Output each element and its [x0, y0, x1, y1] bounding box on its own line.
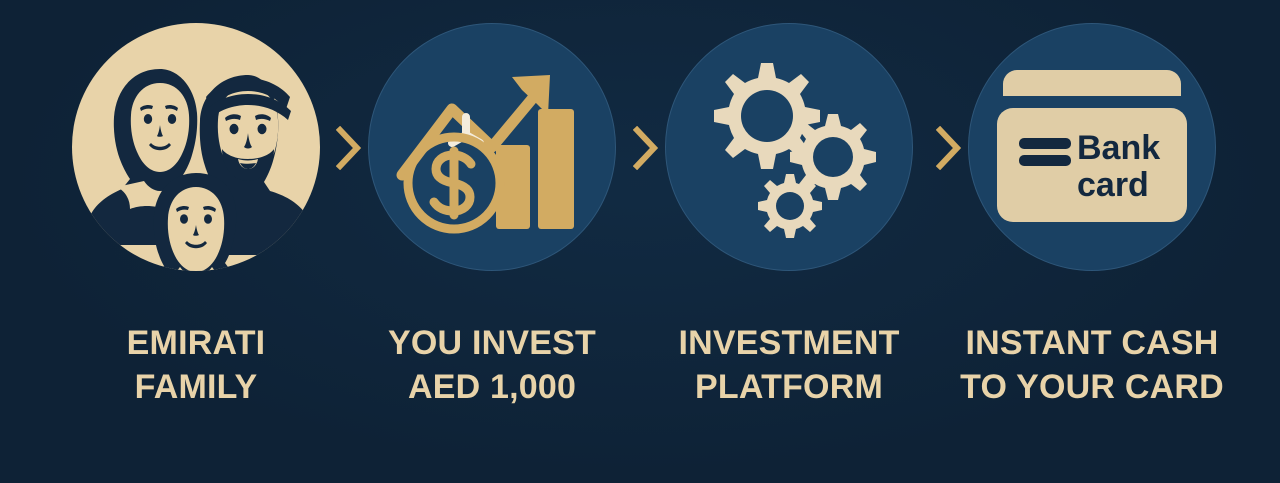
step-emirati-family: EMIRATI FAMILY	[72, 0, 320, 483]
step-4-label-line1: INSTANT CASH	[966, 324, 1219, 362]
step-1-label-line2: FAMILY	[44, 366, 348, 410]
bank-card-icon: Bank card	[968, 23, 1216, 271]
step-2-circle	[368, 23, 616, 271]
chevron-right-icon-1	[336, 126, 362, 170]
step-1-circle	[72, 23, 320, 271]
growth-chart-dollar-icon	[368, 23, 616, 271]
step-you-invest: YOU INVEST AED 1,000	[368, 0, 616, 483]
step-1-caption: EMIRATI FAMILY	[44, 322, 348, 409]
step-4-circle: Bank card	[968, 23, 1216, 271]
bank-card-text-line2: card	[1077, 166, 1149, 204]
step-4-label-line2: TO YOUR CARD	[940, 366, 1244, 410]
step-investment-platform: INVESTMENT PLATFORM	[665, 0, 913, 483]
step-2-label-line2: AED 1,000	[340, 366, 644, 410]
infographic-flow: EMIRATI FAMILY	[0, 0, 1280, 483]
step-3-label-line2: PLATFORM	[637, 366, 941, 410]
bank-card-text-line1: Bank	[1077, 129, 1160, 167]
gears-icon	[665, 23, 913, 271]
step-2-caption: YOU INVEST AED 1,000	[340, 322, 644, 409]
step-instant-cash: Bank card INSTANT CASH TO YOUR CARD	[968, 0, 1216, 483]
emirati-family-icon	[72, 23, 320, 271]
step-4-caption: INSTANT CASH TO YOUR CARD	[940, 322, 1244, 409]
step-3-circle	[665, 23, 913, 271]
step-3-caption: INVESTMENT PLATFORM	[637, 322, 941, 409]
step-1-label-line1: EMIRATI	[127, 324, 266, 362]
chevron-right-icon-2	[633, 126, 659, 170]
step-3-label-line1: INVESTMENT	[678, 324, 899, 362]
step-2-label-line1: YOU INVEST	[388, 324, 596, 362]
chevron-right-icon-3	[936, 126, 962, 170]
